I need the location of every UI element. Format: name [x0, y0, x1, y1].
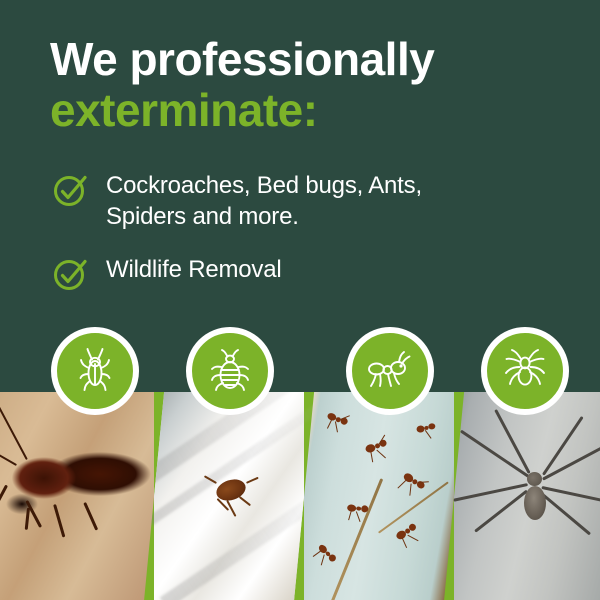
services-list: Cockroaches, Bed bugs, Ants, Spiders and… — [52, 170, 532, 314]
list-item-label: Wildlife Removal — [106, 254, 282, 285]
bedbug-icon — [204, 345, 256, 397]
list-item: Cockroaches, Bed bugs, Ants, Spiders and… — [52, 170, 532, 232]
check-circle-icon — [52, 172, 88, 208]
page-title: We professionally exterminate: — [50, 34, 560, 136]
headline-line-2: exterminate: — [50, 84, 560, 136]
badge-ant — [346, 327, 434, 415]
ant-icon — [364, 345, 416, 397]
badge-bedbug — [186, 327, 274, 415]
bedbug-photo — [143, 392, 315, 600]
badge-cockroach — [51, 327, 139, 415]
spider-icon — [499, 345, 551, 397]
pest-control-ad: We professionally exterminate: Cockroach… — [0, 0, 600, 600]
list-item: Wildlife Removal — [52, 254, 532, 292]
list-item-label: Cockroaches, Bed bugs, Ants, Spiders and… — [106, 170, 506, 232]
headline-line-1: We professionally — [50, 34, 560, 84]
badge-spider — [481, 327, 569, 415]
cockroach-photo — [0, 392, 165, 600]
ants-photo — [293, 392, 465, 600]
cockroach-icon — [69, 345, 121, 397]
check-circle-icon — [52, 256, 88, 292]
spider-photo — [443, 392, 600, 600]
photo-strip — [0, 392, 600, 600]
